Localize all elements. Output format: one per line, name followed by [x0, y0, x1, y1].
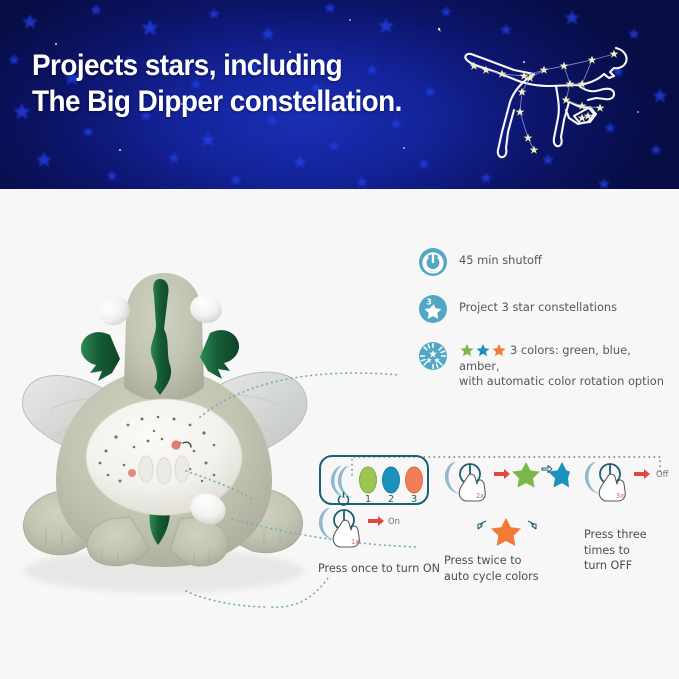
button-label-2: 2 [388, 494, 394, 505]
press-count-3x: 3x [616, 492, 624, 500]
instruction-press-three-times: 3x Off Press three times to turn OFF [584, 458, 679, 574]
ursa-major-constellation-icon [438, 28, 638, 168]
feature-label-shutoff: 45 min shutoff [459, 247, 542, 269]
feature-item-colors: 3 colors: green, blue, amber, with autom… [418, 341, 668, 390]
instruction-press-twice: 2x Press twice to auto cycle colors [444, 458, 574, 584]
press-twice-star-cycle [444, 517, 570, 547]
press-count-1x: 1x [351, 538, 359, 546]
color-stars-icon [459, 343, 507, 357]
feature-list: 45 min shutoff 3 Project 3 star constell… [418, 247, 668, 407]
star-three-icon: 3 [418, 294, 448, 324]
product-detail-section: 45 min shutoff 3 Project 3 star constell… [0, 189, 679, 679]
arrow-label-on: On [388, 516, 400, 526]
caption-press-once: Press once to turn ON [318, 561, 448, 577]
feature-label-colors-wrapper: 3 colors: green, blue, amber, with autom… [459, 341, 668, 390]
press-three-times-diagram: 3x Off [584, 458, 679, 520]
press-count-2x: 2x [476, 492, 484, 500]
feature-label-constellations: Project 3 star constellations [459, 294, 617, 316]
starburst-icon [418, 341, 448, 371]
banner-heading: Projects stars, including The Big Dipper… [32, 48, 432, 120]
caption-press-twice: Press twice to auto cycle colors [444, 553, 574, 584]
press-once-diagram: 1 2 3 1x On [318, 454, 442, 558]
caption-press-three-times: Press three times to turn OFF [584, 527, 679, 574]
feature-item-shutoff: 45 min shutoff [418, 247, 668, 277]
arrow-label-off: Off [656, 469, 669, 479]
button-label-3: 3 [411, 494, 417, 505]
instruction-press-once: 1 2 3 1x On Press once to turn ON [318, 454, 448, 577]
hero-banner: Projects stars, including The Big Dipper… [0, 0, 679, 189]
timer-power-icon [418, 247, 448, 277]
usage-instructions: 1 2 3 1x On Press once to turn ON [318, 454, 678, 574]
press-twice-diagram: 2x [444, 458, 570, 520]
button-label-1: 1 [365, 494, 371, 505]
feature-item-constellations: 3 Project 3 star constellations [418, 294, 668, 324]
svg-text:3: 3 [426, 298, 432, 307]
